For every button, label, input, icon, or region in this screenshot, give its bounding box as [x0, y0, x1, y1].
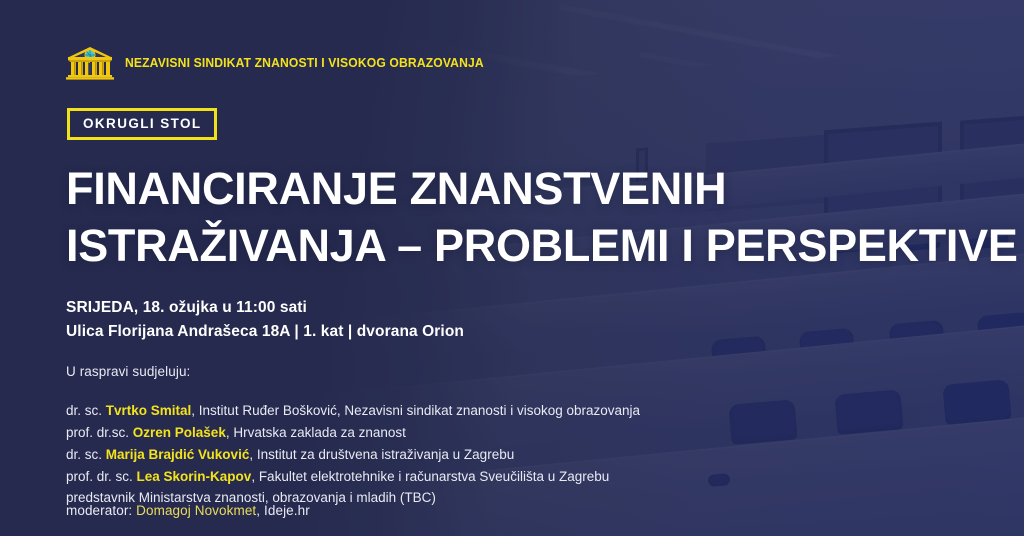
- participant-prefix: dr. sc.: [66, 447, 106, 462]
- participant-name: Ozren Polašek: [133, 425, 226, 440]
- participants-intro: U raspravi sudjeluju:: [66, 364, 190, 379]
- event-schedule: SRIJEDA, 18. ožujka u 11:00 sati Ulica F…: [66, 296, 464, 343]
- participant-row: dr. sc. Marija Brajdić Vuković, Institut…: [66, 444, 640, 466]
- organization-name: NEZAVISNI SINDIKAT ZNANOSTI I VISOKOG OB…: [125, 56, 484, 70]
- moderator-suffix: , Ideje.hr: [256, 503, 310, 518]
- title-line-1: FINANCIRANJE ZNANSTVENIH: [66, 160, 1018, 217]
- moderator-name: Domagoj Novokmet: [136, 503, 256, 518]
- event-location: Ulica Florijana Andrašeca 18A | 1. kat |…: [66, 320, 464, 344]
- participant-prefix: dr. sc.: [66, 403, 106, 418]
- participant-affiliation: , Hrvatska zaklada za znanost: [226, 425, 406, 440]
- participant-name: Lea Skorin-Kapov: [137, 469, 252, 484]
- moderator-line: moderator: Domagoj Novokmet, Ideje.hr: [66, 503, 310, 518]
- participant-affiliation: , Institut Ruđer Bošković, Nezavisni sin…: [191, 403, 640, 418]
- title-line-2: ISTRAŽIVANJA – PROBLEMI I PERSPEKTIVE: [66, 217, 1018, 274]
- participant-name: Tvrtko Smital: [106, 403, 192, 418]
- participant-prefix: prof. dr.sc.: [66, 425, 133, 440]
- participant-affiliation: , Fakultet elektrotehnike i računarstva …: [251, 469, 609, 484]
- participant-row: prof. dr. sc. Lea Skorin-Kapov, Fakultet…: [66, 466, 640, 488]
- poster-content: NEZAVISNI SINDIKAT ZNANOSTI I VISOKOG OB…: [0, 0, 1024, 536]
- participant-row: dr. sc. Tvrtko Smital, Institut Ruđer Bo…: [66, 400, 640, 422]
- participant-row: prof. dr.sc. Ozren Polašek, Hrvatska zak…: [66, 422, 640, 444]
- participant-prefix: prof. dr. sc.: [66, 469, 137, 484]
- classical-temple-globe-icon: [66, 46, 114, 80]
- brand-lockup: NEZAVISNI SINDIKAT ZNANOSTI I VISOKOG OB…: [66, 46, 495, 80]
- moderator-prefix: moderator:: [66, 503, 136, 518]
- page-title: FINANCIRANJE ZNANSTVENIH ISTRAŽIVANJA – …: [66, 160, 1018, 274]
- participant-affiliation: , Institut za društvena istraživanja u Z…: [249, 447, 514, 462]
- participants-list: dr. sc. Tvrtko Smital, Institut Ruđer Bo…: [66, 400, 640, 509]
- event-datetime: SRIJEDA, 18. ožujka u 11:00 sati: [66, 296, 464, 320]
- event-poster: NEZAVISNI SINDIKAT ZNANOSTI I VISOKOG OB…: [0, 0, 1024, 536]
- participant-name: Marija Brajdić Vuković: [106, 447, 250, 462]
- event-type-badge: OKRUGLI STOL: [67, 108, 217, 140]
